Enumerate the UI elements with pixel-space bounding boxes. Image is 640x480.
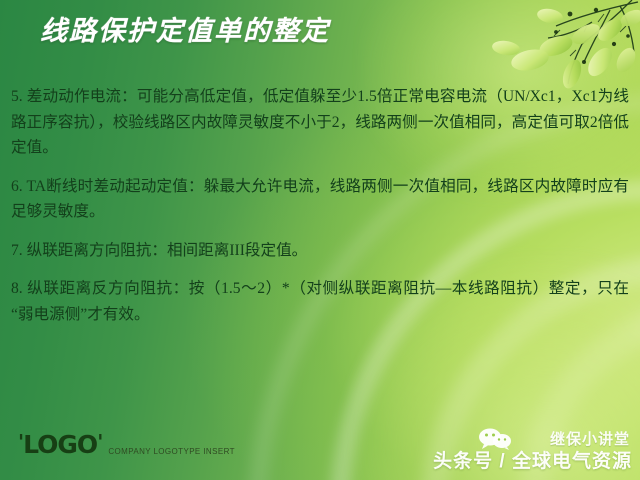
page-title: 线路保护定值单的整定	[40, 9, 330, 48]
logo-subtitle: COMPANY LOGOTYPE INSERT	[108, 448, 235, 456]
title-bar: 线路保护定值单的整定	[0, 0, 640, 62]
logo-mark: 'LOGO'	[18, 432, 102, 457]
slide-canvas: 线路保护定值单的整定 5. 差动动作电流：可能分高低定值，低定值躲至少1.5倍正…	[0, 0, 640, 480]
body-paragraph-8: 8. 纵联距离反方向阻抗：按（1.5～2）*（对侧纵联距离阻抗—本线路阻抗）整定…	[11, 276, 629, 327]
watermark-source-line: 头条号 / 全球电气资源	[433, 446, 632, 473]
body-paragraph-6: 6. TA断线时差动起动定值：躲最大允许电流，线路两侧一次值相同，线路区内故障时…	[11, 174, 629, 225]
watermark: 继保小讲堂 头条号 / 全球电气资源	[414, 428, 634, 476]
slide-body: 5. 差动动作电流：可能分高低定值，低定值躲至少1.5倍正常电容电流（UN/Xc…	[11, 84, 629, 327]
logo-quote-right: '	[97, 430, 102, 454]
footer-logo: 'LOGO'COMPANY LOGOTYPE INSERT	[18, 432, 235, 466]
logo-mark-text: LOGO	[23, 430, 97, 459]
body-paragraph-7: 7. 纵联距离方向阻抗：相间距离III段定值。	[11, 238, 629, 264]
body-paragraph-5: 5. 差动动作电流：可能分高低定值，低定值躲至少1.5倍正常电容电流（UN/Xc…	[11, 84, 629, 161]
